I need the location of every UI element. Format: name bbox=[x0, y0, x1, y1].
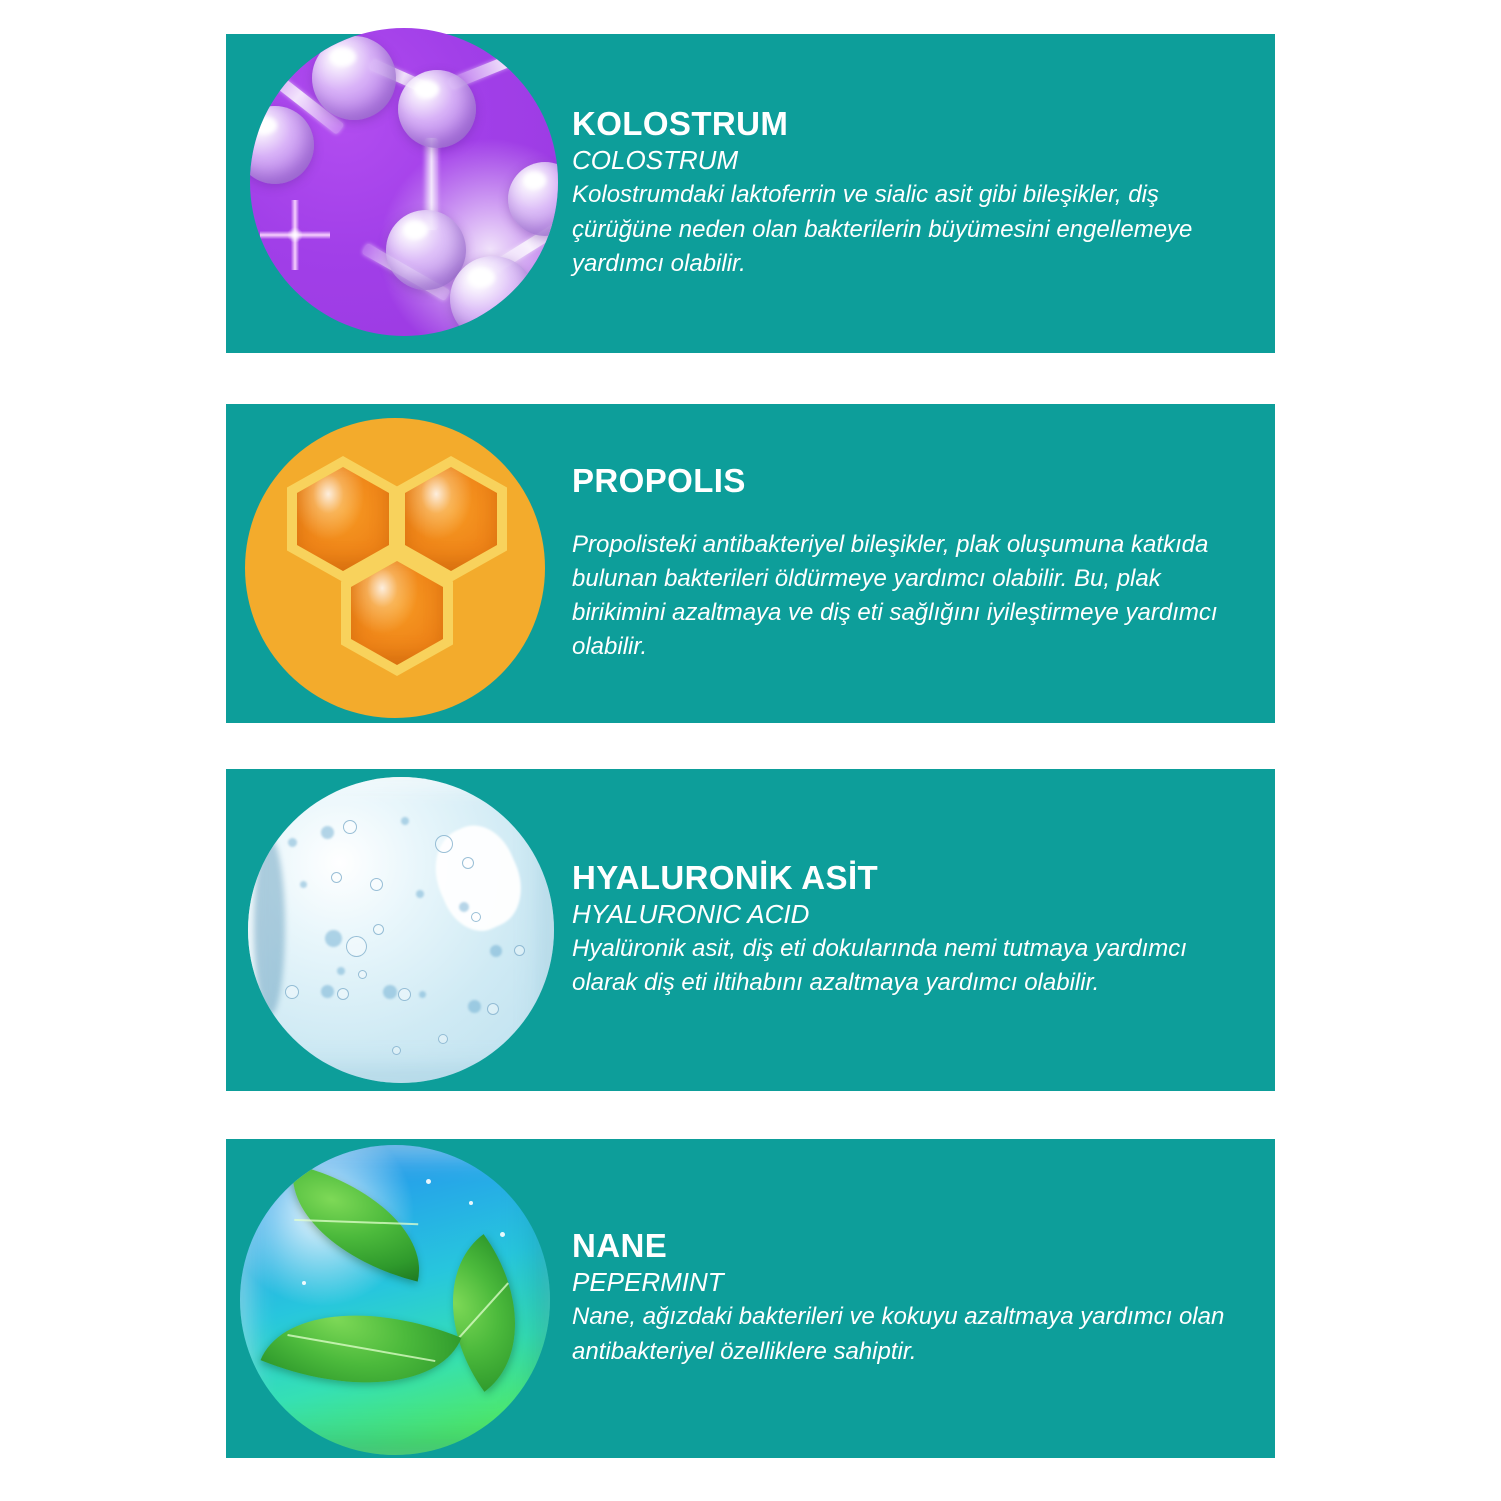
card-text-block: HYALURONİK ASİT HYALURONIC ACID Hyalüron… bbox=[572, 769, 1245, 1091]
ingredient-card-nane: NANE PEPERMINT Nane, ağızdaki bakteriler… bbox=[226, 1139, 1275, 1458]
honeycomb-icon bbox=[245, 418, 545, 718]
ingredient-title: PROPOLIS bbox=[572, 463, 1245, 500]
ingredient-description: Hyalüronik asit, diş eti dokularında nem… bbox=[572, 932, 1245, 1000]
molecule-icon bbox=[250, 28, 558, 336]
card-text-block: KOLOSTRUM COLOSTRUM Kolostrumdaki laktof… bbox=[572, 34, 1245, 353]
ingredient-subtitle: HYALURONIC ACID bbox=[572, 899, 1245, 929]
ingredient-card-kolostrum: KOLOSTRUM COLOSTRUM Kolostrumdaki laktof… bbox=[226, 34, 1275, 353]
ingredient-description: Kolostrumdaki laktoferrin ve sialic asit… bbox=[572, 178, 1245, 280]
ingredient-subtitle: COLOSTRUM bbox=[572, 145, 1245, 175]
card-text-block: NANE PEPERMINT Nane, ağızdaki bakteriler… bbox=[572, 1139, 1245, 1458]
ingredient-title: NANE bbox=[572, 1228, 1245, 1265]
ingredient-title: HYALURONİK ASİT bbox=[572, 860, 1245, 897]
ingredient-title: KOLOSTRUM bbox=[572, 106, 1245, 143]
ingredient-card-hyaluronik-asit: HYALURONİK ASİT HYALURONIC ACID Hyalüron… bbox=[226, 769, 1275, 1091]
ingredient-description: Nane, ağızdaki bakterileri ve kokuyu aza… bbox=[572, 1300, 1245, 1368]
ingredient-card-propolis: PROPOLIS Propolisteki antibakteriyel bil… bbox=[226, 404, 1275, 723]
card-text-block: PROPOLIS Propolisteki antibakteriyel bil… bbox=[572, 404, 1245, 723]
gel-droplet-icon bbox=[248, 777, 554, 1083]
ingredient-description: Propolisteki antibakteriyel bileşikler, … bbox=[572, 528, 1245, 664]
ingredients-infographic: KOLOSTRUM COLOSTRUM Kolostrumdaki laktof… bbox=[0, 0, 1501, 1501]
mint-leaves-icon bbox=[240, 1145, 550, 1455]
ingredient-subtitle: PEPERMINT bbox=[572, 1267, 1245, 1297]
